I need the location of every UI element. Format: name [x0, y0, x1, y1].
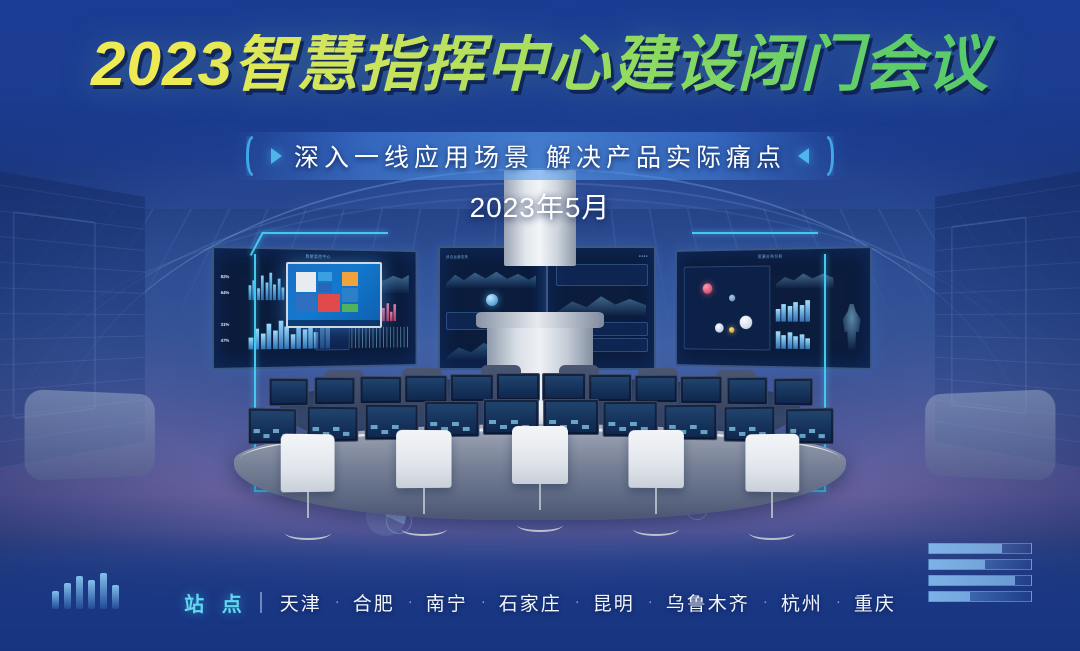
wall-right-doorframe: [951, 216, 1026, 414]
monitor-ui-dot: [500, 425, 507, 429]
city-separator: ·: [575, 593, 580, 610]
videowall-right-barchart-b: [776, 329, 810, 349]
decor-row-fill-2: [929, 576, 1015, 585]
city-5[interactable]: 乌鲁木齐: [666, 589, 750, 616]
decor-row-fill-1: [929, 560, 985, 569]
bubble-red: [703, 283, 713, 293]
side-furniture-right: [925, 389, 1055, 481]
monitor-ui-dot: [333, 427, 339, 431]
monitor-ui-dot: [739, 432, 745, 436]
vw-bar: [787, 306, 792, 321]
videowall-cr-panel-a: [556, 264, 648, 286]
workstation-monitor-back: [314, 377, 355, 405]
vw-bar: [273, 284, 276, 300]
chair-base: [633, 522, 679, 536]
monitor-ui-dot: [382, 430, 389, 434]
vw-bar: [282, 288, 285, 301]
vw-bar: [308, 325, 313, 349]
city-separator: ·: [648, 593, 653, 610]
vw-bar: [787, 332, 792, 349]
decor-row-fill-0: [929, 544, 1002, 553]
vw-bar: [269, 273, 272, 300]
videowall-left-kpi-2: 64%: [221, 290, 229, 297]
win-tile-6: [342, 272, 358, 286]
vw-bar: [782, 304, 787, 321]
monitor-ui-dot: [669, 425, 676, 429]
monitor-screen: [272, 381, 306, 403]
side-furniture-left: [25, 389, 155, 481]
monitor-ui-dot: [452, 422, 459, 426]
workstation-monitor-back: [269, 378, 309, 406]
workstation-monitor-back: [405, 375, 448, 403]
bracket-right-icon: [821, 136, 834, 176]
bubble-white-small: [715, 323, 724, 333]
page-subtitle: 深入一线应用场景 解决产品实际痛点: [294, 138, 786, 174]
monitor-ui-dot: [263, 434, 269, 438]
city-6[interactable]: 杭州: [781, 589, 823, 616]
chair: [281, 434, 335, 493]
footer-sites: 站 点 天津·合肥·南宁·石家庄·昆明·乌鲁木齐·杭州·重庆: [0, 588, 1080, 617]
videowall-screen-right: 资源分布分析: [675, 246, 872, 370]
vw-bar: [249, 337, 254, 349]
triangle-left-icon: [798, 148, 809, 164]
monitor-screen: [776, 381, 810, 403]
decor-row-2: [928, 575, 1032, 586]
center-column-cap: [476, 312, 604, 328]
triangle-right-icon: [271, 148, 282, 164]
wall-left-doorframe: [13, 211, 96, 419]
subtitle-strip: 深入一线应用场景 解决产品实际痛点: [230, 132, 850, 180]
videowall-left-panel-c: [316, 325, 350, 350]
vw-bar: [394, 305, 397, 322]
monitor-screen: [453, 377, 491, 399]
monitor-screen: [637, 378, 674, 400]
monitor-ui-dot: [809, 429, 815, 433]
city-2[interactable]: 南宁: [426, 589, 468, 616]
videowall-right-barchart-a: [776, 298, 810, 322]
workstation-monitor-back: [588, 374, 632, 402]
chair: [396, 430, 451, 488]
chair: [628, 430, 683, 488]
monitor-screen: [362, 379, 398, 401]
win-tile-2: [318, 272, 332, 281]
bubble-yellow: [729, 327, 734, 333]
vw-bar: [776, 309, 781, 322]
vw-bar: [285, 326, 290, 349]
chair: [745, 434, 799, 493]
workstation-monitor-back: [680, 376, 722, 404]
hud-line-top-right: [692, 232, 818, 234]
city-3[interactable]: 石家庄: [499, 589, 562, 616]
monitor-screen: [591, 377, 629, 399]
chair-base: [285, 526, 331, 540]
city-separator: ·: [335, 593, 340, 610]
vw-bar: [793, 336, 798, 349]
city-7[interactable]: 重庆: [854, 589, 896, 616]
vw-bar: [267, 324, 272, 349]
chair-base: [401, 522, 447, 536]
win-tile-8: [342, 304, 358, 312]
win-taskbar: [288, 320, 380, 326]
monitor-ui-dot: [700, 430, 707, 434]
videowall-right-bubblechart: [684, 265, 771, 350]
win-tile-1: [296, 272, 316, 292]
monitor-ui-dot: [273, 429, 279, 433]
monitor-ui-dot: [609, 422, 616, 426]
city-separator: ·: [763, 593, 768, 610]
chair: [512, 426, 568, 484]
monitor-ui-dot: [582, 425, 589, 429]
footer-divider: [260, 592, 262, 613]
monitor-ui-dot: [462, 427, 469, 431]
subtitle-row: 深入一线应用场景 解决产品实际痛点: [0, 132, 1080, 180]
workstation-monitor-back: [774, 378, 814, 406]
workstation-monitor-back: [727, 377, 768, 405]
hud-line-top-left: [262, 232, 388, 234]
videowall-left-kpi-3: 31%: [221, 322, 229, 329]
monitor-ui-dot: [392, 425, 399, 429]
poster-root: 数据监控中心 82% 64% 31% 47% 综合运营态势: [0, 0, 1080, 651]
workstation-monitor-back: [359, 376, 401, 404]
event-date: 2023年5月: [0, 186, 1080, 226]
vw-bar: [273, 331, 278, 349]
vw-bar: [279, 320, 284, 349]
vw-bar: [776, 331, 781, 348]
vw-bar: [386, 304, 389, 322]
vw-bar: [265, 282, 268, 300]
videowall-cr-title: ●●●●: [639, 254, 648, 258]
center-windows-screen: [286, 262, 382, 328]
monitor-screen: [730, 380, 765, 402]
vw-bar: [382, 308, 385, 321]
bubble-blue: [729, 295, 735, 302]
chair-base: [517, 518, 563, 532]
monitor-ui-dot: [749, 427, 755, 431]
monitor-ui-dot: [819, 434, 825, 438]
monitor-ui-dot: [571, 420, 578, 424]
videowall-right-title: 资源分布分析: [758, 254, 783, 260]
videowall-left-linechart: [351, 327, 408, 348]
monitor-ui-dot: [620, 427, 627, 431]
city-0[interactable]: 天津: [280, 589, 322, 616]
monitor-ui-dot: [800, 434, 806, 438]
chair-base: [749, 526, 795, 540]
win-tile-7: [342, 288, 358, 302]
vw-bar: [261, 276, 264, 300]
vw-bar: [261, 334, 266, 350]
vw-bar: [799, 305, 804, 321]
monitor-screen: [545, 376, 583, 398]
vw-bar: [805, 301, 810, 322]
workstation-monitor-back: [542, 373, 586, 401]
monitor-ui-dot: [371, 425, 378, 429]
monitor-screen: [499, 376, 537, 398]
bubble-white-large: [740, 316, 753, 329]
monitor-ui-dot: [430, 422, 437, 426]
monitor-ui-dot: [489, 420, 496, 424]
vw-bar: [302, 329, 307, 348]
monitor-ui-dot: [730, 427, 736, 431]
monitor-screen: [317, 380, 352, 402]
vw-bar: [257, 289, 260, 301]
monitor-ui-dot: [690, 425, 697, 429]
vw-bar: [782, 335, 787, 349]
videowall-left-kpi-1: 82%: [221, 274, 229, 281]
videowall-cl-title: 综合运营态势: [446, 254, 468, 259]
vw-bar: [805, 338, 810, 349]
vw-bar: [799, 334, 804, 349]
sites-label: 站 点: [184, 588, 248, 617]
vw-bar: [390, 312, 393, 321]
videowall-left-title: 数据监控中心: [306, 254, 331, 260]
monitor-ui-dot: [790, 429, 796, 433]
workstation-monitor-back: [450, 374, 494, 402]
city-list: 天津·合肥·南宁·石家庄·昆明·乌鲁木齐·杭州·重庆: [280, 589, 896, 616]
videowall-cl-areachart: [446, 266, 536, 288]
win-tile-5: [318, 294, 340, 312]
decor-row-0: [928, 543, 1032, 554]
vw-bar: [278, 278, 281, 300]
monitor-ui-dot: [549, 420, 556, 424]
monitor-screen: [408, 378, 445, 400]
videowall-cl-bubble: [486, 294, 498, 306]
monitor-ui-dot: [343, 432, 349, 436]
vw-bar: [291, 335, 296, 349]
vw-bar: [249, 285, 252, 300]
bracket-left-icon: [246, 136, 259, 176]
monitor-ui-dot: [312, 427, 319, 431]
win-tile-4: [296, 294, 316, 312]
human-body-scan-icon: [839, 304, 864, 350]
videowall-left-kpi-4: 47%: [221, 338, 229, 345]
decor-row-1: [928, 559, 1032, 570]
win-tile-3: [318, 283, 332, 292]
monitor-ui-dot: [511, 420, 518, 424]
workstation-monitor-back: [496, 373, 540, 401]
city-1[interactable]: 合肥: [353, 589, 395, 616]
monitor-ui-dot: [630, 422, 637, 426]
city-separator: ·: [481, 593, 486, 610]
workstation-monitor-back: [634, 375, 677, 403]
city-separator: ·: [408, 593, 413, 610]
city-separator: ·: [836, 593, 841, 610]
vw-bar: [793, 302, 798, 322]
monitor-screen: [683, 379, 719, 401]
monitor-ui-dot: [254, 429, 260, 433]
page-title: 2023智慧指挥中心建设闭门会议: [0, 34, 1080, 96]
city-4[interactable]: 昆明: [593, 589, 635, 616]
